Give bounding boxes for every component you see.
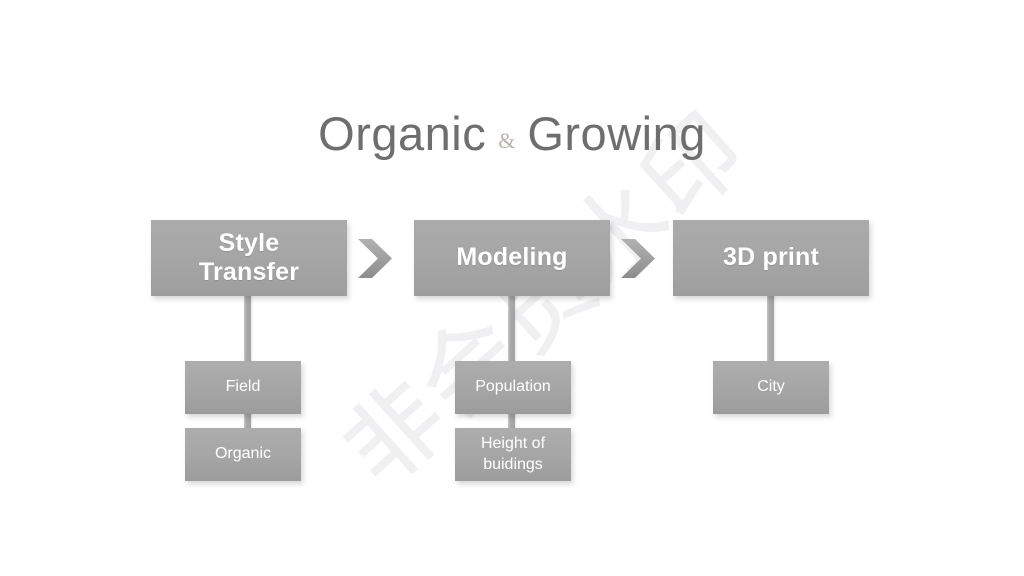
- page-title: Organic&Growing: [0, 106, 1024, 161]
- chevron-right-icon-1: [357, 238, 393, 279]
- sub-label-line1: Height of: [481, 435, 545, 452]
- stage-box-style-transfer-label: Style Transfer: [199, 229, 299, 288]
- stage-box-modeling-label: Modeling: [456, 243, 567, 273]
- chevron-right-icon-2: [620, 238, 656, 279]
- stage-box-3d-print[interactable]: 3D print: [673, 220, 869, 296]
- stage-label-line2: Transfer: [199, 258, 299, 286]
- sub-box-field-label: Field: [226, 377, 261, 398]
- connector-modeling-to-population: [508, 296, 515, 364]
- process-flow-diagram: Style Transfer Modeling 3D print: [0, 0, 1024, 576]
- connector-3dprint-to-city: [767, 296, 774, 364]
- sub-box-population-label: Population: [475, 377, 551, 398]
- page-title-part1: Organic: [318, 107, 486, 160]
- sub-box-height-of-buidings[interactable]: Height of buidings: [455, 428, 571, 481]
- stage-box-style-transfer[interactable]: Style Transfer: [151, 220, 347, 296]
- sub-box-city[interactable]: City: [713, 361, 829, 414]
- sub-label-line2: buidings: [483, 456, 543, 473]
- sub-box-city-label: City: [757, 377, 785, 398]
- stage-label-line1: Style: [219, 229, 280, 257]
- stage-box-modeling[interactable]: Modeling: [414, 220, 610, 296]
- slide-canvas: 非会员水印 Organic&Growing Style Transfer Mod…: [0, 0, 1024, 576]
- page-title-part2: Growing: [527, 107, 706, 160]
- sub-box-organic-label: Organic: [215, 444, 271, 465]
- sub-box-organic[interactable]: Organic: [185, 428, 301, 481]
- sub-box-height-of-buidings-label: Height of buidings: [481, 434, 545, 476]
- sub-box-population[interactable]: Population: [455, 361, 571, 414]
- stage-box-3d-print-label: 3D print: [723, 243, 819, 273]
- sub-box-field[interactable]: Field: [185, 361, 301, 414]
- page-title-ampersand: &: [486, 128, 527, 153]
- connector-style-transfer-to-field: [244, 296, 251, 364]
